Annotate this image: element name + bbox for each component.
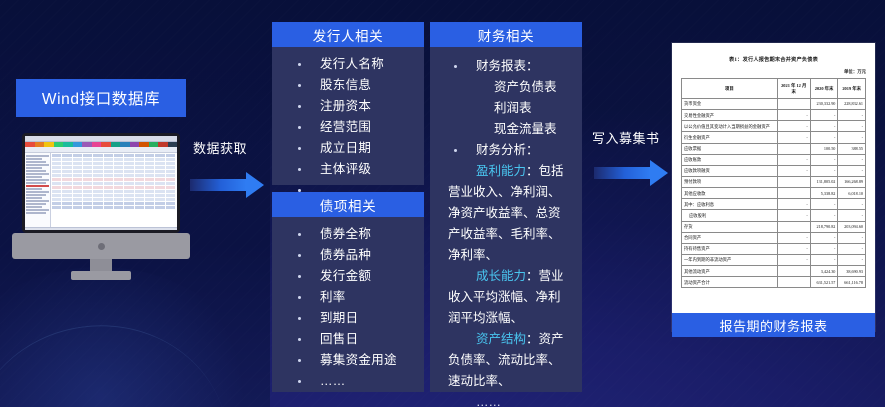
analysis-profitability[interactable]: 盈利能力：包括营业收入、净利润、净资产收益率、总资产收益率、毛利率、净利率、	[430, 161, 570, 266]
analysis-profitability-text: ：包括营业收入、净利润、净资产收益率、总资产收益率、毛利率、净利率、	[448, 164, 564, 262]
table-cell-value: -	[810, 243, 838, 254]
col-header-2020: 2020 年末	[810, 79, 838, 99]
bullet-dot-icon	[298, 359, 301, 362]
table-header-row: 项目 2021 年 12 月末 2020 年末 2019 年末	[682, 79, 866, 99]
list-item-label: ……	[320, 374, 346, 388]
table-row: 交易性金融资产---	[682, 110, 866, 121]
bullet-dot-icon	[298, 168, 301, 171]
table-cell-value	[777, 266, 810, 277]
analysis-growth-label: 成长能力	[476, 269, 526, 283]
bullet-dot-icon	[298, 380, 301, 383]
table-cell-value: -	[777, 232, 810, 243]
list-item-label: 注册资本	[320, 99, 371, 113]
table-cell-value: -	[838, 154, 866, 165]
table-cell-item: 流动资产合计	[682, 277, 778, 288]
table-cell-value: 228,832.61	[838, 99, 866, 110]
table-row: 其他应收款5,338.826,018.10	[682, 188, 866, 199]
table-cell-value: -	[810, 165, 838, 176]
list-item-label: 债券品种	[320, 248, 371, 262]
bullet-dot-icon	[298, 317, 301, 320]
list-item-label: 经营范围	[320, 120, 371, 134]
list-item[interactable]: 成立日期	[272, 138, 424, 159]
table-cell-value: -	[810, 199, 838, 210]
list-item-label: 募集资金用途	[320, 353, 397, 367]
list-item-label: 股东信息	[320, 78, 371, 92]
arrow-write-prospectus-icon	[594, 160, 668, 186]
panel-issuer-body: 发行人名称 股东信息 注册资本 经营范围 成立日期 主体评级 ……	[272, 47, 424, 209]
table-cell-value	[777, 221, 810, 232]
table-cell-value: -	[838, 165, 866, 176]
table-cell-item: 存货	[682, 221, 778, 232]
table-row: 合同资产---	[682, 232, 866, 243]
monitor-power-dot-icon	[98, 243, 105, 250]
table-cell-value: 388.55	[838, 143, 866, 154]
panel-bond-title: 债项相关	[320, 195, 376, 215]
monitor-illustration	[12, 133, 190, 281]
bullet-dot-icon	[298, 63, 301, 66]
table-cell-value: 218,790.82	[810, 221, 838, 232]
bullet-dot-icon	[298, 275, 301, 278]
document-title: 表1：发行人报告期末合并资产负债表	[681, 56, 866, 63]
table-cell-item: 持有待售资产	[682, 243, 778, 254]
finance-bullet-analysis-label: 财务分析：	[476, 143, 539, 157]
table-cell-item: 交易性金融资产	[682, 110, 778, 121]
table-cell-value: -	[838, 199, 866, 210]
analysis-profitability-label: 盈利能力	[476, 164, 526, 178]
statement-item[interactable]: 利润表	[430, 98, 570, 119]
table-row: 持有待售资产---	[682, 243, 866, 254]
list-item[interactable]: 债券品种	[272, 245, 424, 266]
analysis-growth[interactable]: 成长能力：营业收入平均涨幅、净利润平均涨幅、	[430, 266, 570, 329]
bullet-dot-icon	[298, 254, 301, 257]
table-row: 应收股利---	[682, 210, 866, 221]
table-cell-value: -	[777, 132, 810, 143]
table-row: 衍生金融资产---	[682, 132, 866, 143]
terminal-body	[25, 153, 177, 227]
table-cell-item: 合同资产	[682, 232, 778, 243]
panel-issuer: 发行人相关 发行人名称 股东信息 注册资本 经营范围 成立日期 主体评级 ……	[272, 22, 424, 185]
terminal-sidebar	[25, 153, 51, 227]
table-row: 存货218,790.82203,094.60	[682, 221, 866, 232]
table-cell-item: 应收股利	[682, 210, 778, 221]
table-cell-value: 230,332.90	[810, 99, 838, 110]
table-cell-value: 203,094.60	[838, 221, 866, 232]
table-cell-item: 衍生金融资产	[682, 132, 778, 143]
arrow-data-fetch-icon	[190, 172, 264, 198]
list-item-label: 成立日期	[320, 141, 371, 155]
list-item-label: 利率	[320, 290, 346, 304]
table-row: 货币资金230,332.90228,832.61	[682, 99, 866, 110]
bullet-dot-icon	[454, 149, 457, 152]
list-item[interactable]: 经营范围	[272, 117, 424, 138]
bullet-dot-icon	[298, 126, 301, 129]
list-item[interactable]: 到期日	[272, 308, 424, 329]
table-cell-item: 以公允价值且其变动计入当期损益的金融资产	[682, 121, 778, 132]
terminal-statusbar	[25, 227, 177, 230]
table-cell-item: 其他应收款	[682, 188, 778, 199]
table-cell-value: -	[838, 232, 866, 243]
table-cell-value: -	[810, 254, 838, 265]
col-header-2021: 2021 年 12 月末	[777, 79, 810, 99]
table-cell-value: 166,268.89	[838, 176, 866, 187]
document-unit: 单位：万元	[681, 69, 866, 75]
wind-database-box: Wind接口数据库	[16, 79, 186, 117]
table-cell-item: 其他流动资产	[682, 266, 778, 277]
table-cell-item: 预付款项	[682, 176, 778, 187]
arrow-write-prospectus: 写入募集书	[592, 128, 672, 198]
table-cell-value	[777, 277, 810, 288]
wind-terminal-screenshot	[25, 136, 177, 230]
document-caption-bar: 报告期的财务报表	[672, 313, 875, 337]
table-cell-value: -	[777, 154, 810, 165]
monitor-screen	[22, 133, 180, 233]
arrow-data-fetch-label: 数据获取	[193, 138, 247, 157]
list-item[interactable]: 利率	[272, 287, 424, 308]
bullet-dot-icon	[298, 84, 301, 87]
table-cell-value	[777, 99, 810, 110]
panel-finance-header: 财务相关	[430, 22, 582, 47]
document-page: 表1：发行人报告期末合并资产负债表 单位：万元 项目 2021 年 12 月末 …	[672, 43, 875, 331]
panel-bond-header: 债项相关	[272, 192, 424, 217]
panel-bond-body: 债券全称 债券品种 发行金额 利率 到期日 回售日 募集资金用途 ……	[272, 217, 424, 400]
table-row: 应收票据100.50388.55	[682, 143, 866, 154]
table-row: 应收款项融资---	[682, 165, 866, 176]
statement-item[interactable]: 资产负债表	[430, 77, 570, 98]
balance-sheet-table: 项目 2021 年 12 月末 2020 年末 2019 年末 货币资金230,…	[681, 78, 866, 288]
table-row: 以公允价值且其变动计入当期损益的金融资产---	[682, 121, 866, 132]
table-cell-value: -	[777, 165, 810, 176]
analysis-asset-structure[interactable]: 资产结构：资产负债率、流动比率、速动比率、	[430, 329, 570, 392]
terminal-colorbar	[25, 142, 177, 147]
table-row: 预付款项131,805.02166,268.89	[682, 176, 866, 187]
bullet-dot-icon	[454, 65, 457, 68]
wind-database-label: Wind接口数据库	[42, 87, 160, 109]
bullet-dot-icon	[298, 338, 301, 341]
table-cell-value	[777, 176, 810, 187]
table-cell-value	[777, 188, 810, 199]
finance-ellipsis: ……	[430, 392, 570, 407]
bullet-dot-icon	[298, 233, 301, 236]
table-cell-value: -	[810, 210, 838, 221]
table-cell-value: -	[810, 154, 838, 165]
table-cell-value: 6,018.10	[838, 188, 866, 199]
list-item[interactable]: 主体评级	[272, 159, 424, 180]
table-row: 其他流动资产3,424.3038,690.93	[682, 266, 866, 277]
table-cell-item: 应收票据	[682, 143, 778, 154]
list-item[interactable]: 股东信息	[272, 75, 424, 96]
table-cell-item: 一年内到期的非流动资产	[682, 254, 778, 265]
list-item-label: 发行人名称	[320, 57, 384, 71]
table-cell-value: -	[777, 199, 810, 210]
table-cell-value: -	[838, 210, 866, 221]
list-item[interactable]: 募集资金用途	[272, 350, 424, 371]
table-cell-value: -	[838, 254, 866, 265]
table-cell-value: -	[810, 132, 838, 143]
table-cell-item: 其中：应收利息	[682, 199, 778, 210]
finance-bullet-analysis[interactable]: 财务分析：	[430, 140, 570, 161]
finance-bullet-statements-label: 财务报表：	[476, 59, 539, 73]
issuer-list: 发行人名称 股东信息 注册资本 经营范围 成立日期 主体评级 ……	[272, 54, 424, 201]
table-cell-item: 应收账款	[682, 154, 778, 165]
panel-issuer-title: 发行人相关	[313, 25, 384, 45]
table-cell-value: 661,116.78	[838, 277, 866, 288]
panel-issuer-header: 发行人相关	[272, 22, 424, 47]
finance-bullet-statements[interactable]: 财务报表：	[430, 56, 570, 77]
bullet-dot-icon	[298, 296, 301, 299]
table-cell-value: -	[777, 121, 810, 132]
panel-finance: 财务相关 财务报表： 资产负债表 利润表 现金流量表 财务分析： 盈利能力：包括…	[430, 22, 582, 392]
panel-bond: 债项相关 债券全称 债券品种 发行金额 利率 到期日 回售日 募集资金用途 ……	[272, 192, 424, 392]
list-item[interactable]: 发行人名称	[272, 54, 424, 75]
list-item[interactable]: 发行金额	[272, 266, 424, 287]
table-cell-value: -	[777, 243, 810, 254]
table-cell-value	[777, 143, 810, 154]
balance-sheet-document[interactable]: 表1：发行人报告期末合并资产负债表 单位：万元 项目 2021 年 12 月末 …	[672, 43, 875, 331]
table-row: 其中：应收利息---	[682, 199, 866, 210]
slide-canvas: Wind接口数据库	[0, 0, 885, 407]
table-row: 应收账款---	[682, 154, 866, 165]
list-item-label: 回售日	[320, 332, 358, 346]
panel-finance-title: 财务相关	[478, 25, 534, 45]
table-cell-value: -	[838, 132, 866, 143]
analysis-asset-structure-label: 资产结构	[476, 332, 526, 346]
list-item[interactable]: 债券全称	[272, 224, 424, 245]
list-item-label: 到期日	[320, 311, 358, 325]
table-cell-value: 38,690.93	[838, 266, 866, 277]
table-cell-value: 631,521.57	[810, 277, 838, 288]
table-cell-value: 5,338.82	[810, 188, 838, 199]
col-header-2019: 2019 年末	[838, 79, 866, 99]
table-cell-value: -	[838, 243, 866, 254]
bullet-dot-icon	[298, 105, 301, 108]
table-cell-value: -	[810, 121, 838, 132]
table-row: 流动资产合计631,521.57661,116.78	[682, 277, 866, 288]
panel-finance-body: 财务报表： 资产负债表 利润表 现金流量表 财务分析： 盈利能力：包括营业收入、…	[430, 47, 582, 407]
table-cell-value: 131,805.02	[810, 176, 838, 187]
table-cell-item: 应收款项融资	[682, 165, 778, 176]
table-cell-value: 3,424.30	[810, 266, 838, 277]
table-cell-value: -	[777, 110, 810, 121]
document-caption-label: 报告期的财务报表	[719, 316, 827, 335]
col-header-item: 项目	[682, 79, 778, 99]
table-cell-item: 货币资金	[682, 99, 778, 110]
bullet-dot-icon	[298, 147, 301, 150]
list-item-label: 主体评级	[320, 162, 371, 176]
table-cell-value: -	[777, 254, 810, 265]
table-cell-value: -	[838, 121, 866, 132]
balance-sheet-body: 货币资金230,332.90228,832.61交易性金融资产---以公允价值且…	[682, 99, 866, 288]
table-cell-value: 100.50	[810, 143, 838, 154]
list-item[interactable]: 注册资本	[272, 96, 424, 117]
list-item[interactable]: 回售日	[272, 329, 424, 350]
bond-list: 债券全称 债券品种 发行金额 利率 到期日 回售日 募集资金用途 ……	[272, 224, 424, 392]
arrow-write-prospectus-label: 写入募集书	[592, 128, 660, 147]
table-cell-value: -	[810, 232, 838, 243]
table-cell-value: -	[777, 210, 810, 221]
list-item[interactable]: ……	[272, 371, 424, 392]
list-item-label: 发行金额	[320, 269, 371, 283]
table-cell-value: -	[810, 110, 838, 121]
terminal-data-grid	[51, 153, 177, 227]
table-row: 一年内到期的非流动资产---	[682, 254, 866, 265]
monitor-foot	[71, 271, 131, 280]
list-item-label: 债券全称	[320, 227, 371, 241]
arrow-data-fetch: 数据获取	[190, 138, 270, 208]
table-cell-value: -	[838, 110, 866, 121]
statement-item[interactable]: 现金流量表	[430, 119, 570, 140]
